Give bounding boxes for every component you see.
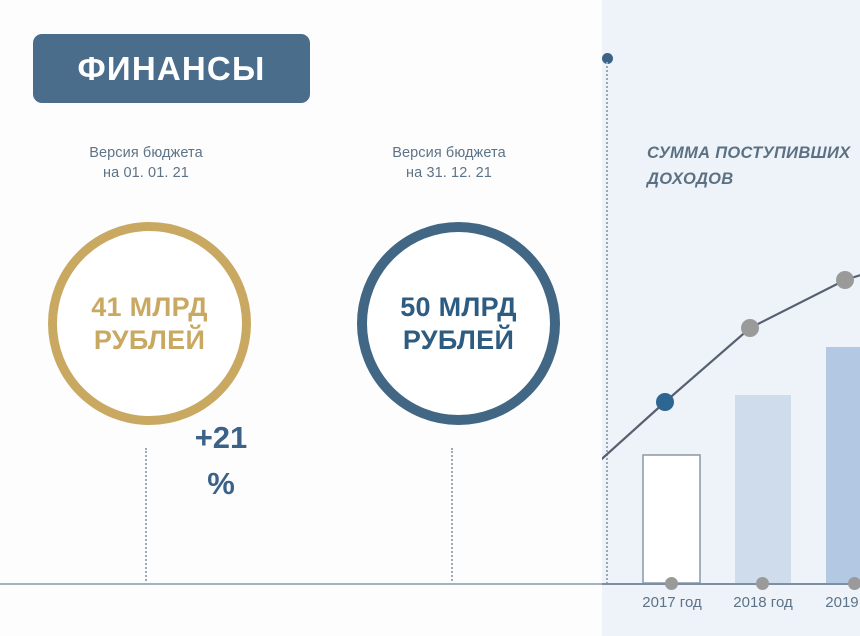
chart-plot-area: 2017 год 2018 год 2019 год [602, 0, 860, 636]
bar-2018 [735, 395, 791, 583]
axis-label-2018: 2018 год [713, 594, 813, 611]
budget-version-caption-1: Версия бюджета на 01. 01. 21 [46, 143, 246, 183]
axis-tick-2019 [848, 577, 860, 590]
slide-root: ФИНАНСЫ Версия бюджета на 01. 01. 21 Вер… [0, 0, 860, 636]
budget-version-caption-2: Версия бюджета на 31. 12. 21 [349, 143, 549, 183]
bar-2017 [643, 455, 700, 583]
budget-ring-initial: 41 МЛРД РУБЛЕЙ [48, 222, 251, 425]
page-title-badge: ФИНАНСЫ [33, 34, 310, 103]
chart-svg [602, 0, 860, 636]
budget-ring-final: 50 МЛРД РУБЛЕЙ [357, 222, 560, 425]
axis-label-2017: 2017 год [622, 594, 722, 611]
budget-amount-initial: 41 МЛРД РУБЛЕЙ [91, 291, 208, 357]
bar-2019 [826, 347, 860, 583]
income-chart-panel: СУММА ПОСТУПИВШИХ ДОХОДОВ 201 [602, 0, 860, 636]
trend-marker-2017 [656, 393, 674, 411]
budget-growth-delta: +21 % [176, 415, 266, 507]
connector-line-final [451, 448, 453, 585]
trend-line [602, 262, 860, 466]
finance-summary-panel: ФИНАНСЫ Версия бюджета на 01. 01. 21 Вер… [0, 0, 602, 636]
axis-label-2019: 2019 год [805, 594, 860, 611]
axis-tick-2018 [756, 577, 769, 590]
trend-marker-2019 [836, 271, 854, 289]
budget-amount-final: 50 МЛРД РУБЛЕЙ [400, 291, 517, 357]
chart-bars [643, 347, 860, 583]
trend-marker-2018 [741, 319, 759, 337]
baseline-divider [0, 583, 602, 585]
page-title: ФИНАНСЫ [78, 50, 266, 88]
axis-tick-2017 [665, 577, 678, 590]
connector-line-initial [145, 448, 147, 585]
chart-axis-line [602, 583, 860, 585]
